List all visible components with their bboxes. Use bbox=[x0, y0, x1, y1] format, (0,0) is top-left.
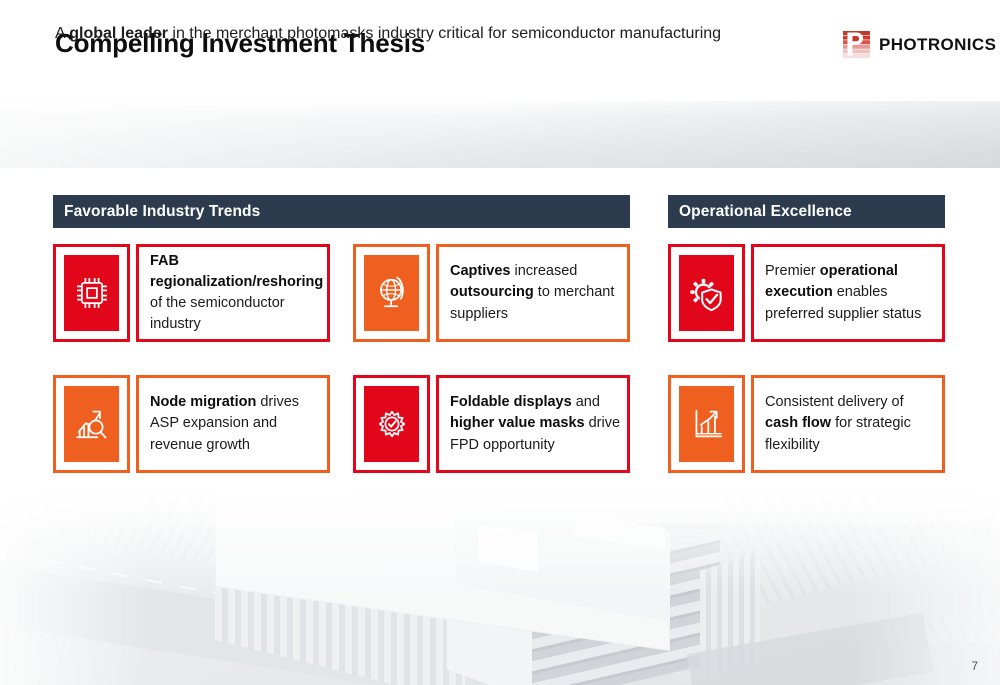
icon-fill bbox=[679, 255, 734, 331]
microchip-icon bbox=[70, 271, 114, 315]
icon-fill bbox=[364, 255, 419, 331]
badge-check-icon bbox=[370, 402, 414, 446]
page-number: 7 bbox=[971, 659, 978, 673]
icon-tile bbox=[53, 375, 130, 473]
globe-icon bbox=[370, 271, 414, 315]
icon-tile bbox=[353, 375, 430, 473]
card-text: Foldable displays and higher value masks… bbox=[436, 375, 630, 473]
card-operational-execution[interactable]: Premier operational execution enables pr… bbox=[668, 244, 945, 342]
card-text: Consistent delivery of cash flow for str… bbox=[751, 375, 945, 473]
icon-tile bbox=[668, 244, 745, 342]
card-text: Node migration drives ASP expansion and … bbox=[136, 375, 330, 473]
photo-white-wash bbox=[0, 483, 1000, 685]
chart-magnifier-icon bbox=[70, 402, 114, 446]
photronics-logo: PHOTRONICS bbox=[843, 31, 996, 58]
icon-fill bbox=[64, 386, 119, 462]
card-text: Captives increased outsourcing to mercha… bbox=[436, 244, 630, 342]
card-cash-flow[interactable]: Consistent delivery of cash flow for str… bbox=[668, 375, 945, 473]
card-text: FAB regionalization/reshoring of the sem… bbox=[136, 244, 330, 342]
card-text: Premier operational execution enables pr… bbox=[751, 244, 945, 342]
card-foldable-displays[interactable]: Foldable displays and higher value masks… bbox=[353, 375, 630, 473]
card-captives-outsourcing[interactable]: Captives increased outsourcing to mercha… bbox=[353, 244, 630, 342]
subtitle-text: A global leader in the merchant photomas… bbox=[55, 0, 721, 67]
section-header-favorable-industry-trends: Favorable Industry Trends bbox=[53, 195, 630, 228]
card-fab-regionalization[interactable]: FAB regionalization/reshoring of the sem… bbox=[53, 244, 330, 342]
section-header-operational-excellence: Operational Excellence bbox=[668, 195, 945, 228]
icon-fill bbox=[364, 386, 419, 462]
gear-shield-icon bbox=[685, 271, 729, 315]
slide-canvas: Compelling Investment Thesis PHOTRONICS … bbox=[0, 0, 1000, 685]
icon-tile bbox=[53, 244, 130, 342]
icon-fill bbox=[679, 386, 734, 462]
bar-arrow-icon bbox=[685, 402, 729, 446]
card-node-migration[interactable]: Node migration drives ASP expansion and … bbox=[53, 375, 330, 473]
icon-tile bbox=[668, 375, 745, 473]
photronics-logo-mark bbox=[843, 31, 870, 58]
logo-wordmark: PHOTRONICS bbox=[879, 35, 996, 55]
icon-tile bbox=[353, 244, 430, 342]
subtitle-band bbox=[0, 101, 1000, 168]
icon-fill bbox=[64, 255, 119, 331]
facility-aerial-photo bbox=[0, 483, 1000, 685]
